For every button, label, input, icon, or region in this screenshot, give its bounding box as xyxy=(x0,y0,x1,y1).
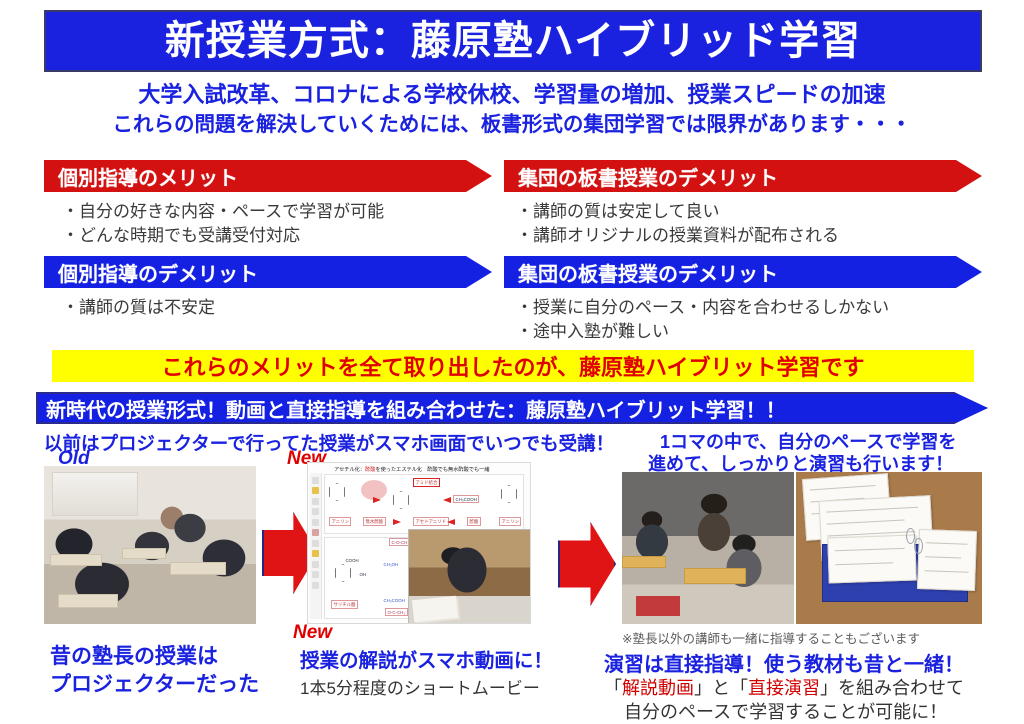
chem-label: CH₃COOH xyxy=(453,495,479,503)
poster-root: 新授業方式：藤原塾ハイブリッド学習 大学入試改革、コロナによる学校休校、学習量の… xyxy=(0,0,1024,724)
arrow-bar-label: 個別指導のメリット xyxy=(58,162,238,191)
chem-slide-title: アセチル化：酢酸を使ったエステル化 酢酸でも無水酢酸でも一緒 xyxy=(334,466,490,473)
benzene-ring-icon xyxy=(501,485,517,503)
chem-panel-upper: アミド結合 CH₃COOH アニリン 無水酢酸 アセトアニリド 酢酸 アニリン xyxy=(324,474,524,534)
chem-label: 無水酢酸 xyxy=(363,517,386,526)
bullet-item: ・授業に自分のペース・内容を合わせるしかない xyxy=(516,296,889,320)
bullet-item: ・途中入塾が難しい xyxy=(516,320,889,344)
lead-paragraph: 大学入試改革、コロナによる学校休校、学習量の増加、授業スピードの加速 これらの問… xyxy=(0,80,1024,140)
bottom-headline-left: 以前はプロジェクターで行ってた授業がスマホ画面でいつでも受講！ xyxy=(44,430,614,456)
lead-line-1: 大学入試改革、コロナによる学校休校、学習量の増加、授業スピードの加速 xyxy=(0,80,1024,110)
yellow-highlight-banner: これらのメリットを全て取り出したのが、藤原塾ハイブリット学習です xyxy=(52,350,974,382)
bullets-kobetsu-merit: ・自分の好きな内容・ペースで学習が可能 ・どんな時期でも受講受付対応 xyxy=(62,200,384,248)
blue-arrow-banner: 新時代の授業形式！動画と直接指導を組み合わせた：藤原塾ハイブリット学習！！ xyxy=(36,392,988,424)
desk xyxy=(622,556,666,568)
benzene-ring-icon xyxy=(393,491,409,509)
photo-chemistry-slide: アセチル化：酢酸を使ったエステル化 酢酸でも無水酢酸でも一緒 アミド結合 CH₃… xyxy=(307,462,531,624)
quote-mid: 」と「 xyxy=(694,678,748,698)
caption-right-note: ※塾長以外の講師も一緒に指導することもございます xyxy=(622,628,920,647)
caption-left-line-2: プロジェクターだった xyxy=(50,668,259,698)
chem-label: CH₃COOH xyxy=(381,596,407,604)
bullet-item: ・講師の質は安定して良い xyxy=(516,200,839,224)
worksheet xyxy=(827,534,917,583)
chem-label: アニリン xyxy=(499,517,521,526)
caption-mid-line-2: 1本5分程度のショートムービー xyxy=(300,674,540,699)
chem-label: CH₃OH xyxy=(381,560,401,568)
slide-tool-sidebar xyxy=(310,473,322,619)
bullets-shudan-merit: ・講師の質は安定して良い ・講師オリジナルの授業資料が配布される xyxy=(516,200,839,248)
benzene-ring-icon xyxy=(335,564,351,582)
chem-label: アニリン xyxy=(329,517,351,526)
quote-open-1: 「 xyxy=(604,678,622,698)
lead-line-2: これらの問題を解決していくためには、板書形式の集団学習では限界があります・・・ xyxy=(0,110,1024,140)
blue-arrow-banner-label: 新時代の授業形式！動画と直接指導を組み合わせた：藤原塾ハイブリット学習！！ xyxy=(46,394,786,423)
binder-ring-icon xyxy=(914,538,923,554)
desk xyxy=(122,548,166,559)
arrow-bar-shudan-merit: 集団の板書授業のデメリット xyxy=(504,160,982,192)
bullets-kobetsu-demerit: ・講師の質は不安定 xyxy=(62,296,215,320)
term-kaisetsu-douga: 解説動画 xyxy=(622,678,694,698)
chem-title-part-b: を使ったエステル化 酢酸でも無水酢酸でも一緒 xyxy=(375,467,489,473)
arrow-bar-kobetsu-merit: 個別指導のメリット xyxy=(44,160,492,192)
yellow-banner-label: これらのメリットを全て取り出したのが、藤原塾ハイブリット学習です xyxy=(161,350,864,382)
chair xyxy=(636,596,680,616)
caption-right-line-1: 演習は直接指導！使う教材も昔と一緒！ xyxy=(604,648,964,677)
bullet-item: ・どんな時期でも受講受付対応 xyxy=(62,224,384,248)
title-banner: 新授業方式：藤原塾ハイブリッド学習 xyxy=(44,10,982,72)
caption-left-line-1: 昔の塾長の授業は xyxy=(50,640,218,670)
chem-label: アセトアニリド xyxy=(413,517,449,526)
chem-title-part-a: アセチル化： xyxy=(334,467,365,473)
desk xyxy=(170,562,226,575)
reaction-arrow-icon xyxy=(393,519,401,525)
bullet-item: ・講師オリジナルの授業資料が配布される xyxy=(516,224,839,248)
reaction-arrow-icon xyxy=(443,497,451,503)
chem-title-highlight: 酢酸 xyxy=(365,467,375,473)
chem-label: O-C-CH₃ xyxy=(385,608,408,616)
term-chokusetsu-enshu: 直接演習 xyxy=(748,678,820,698)
reaction-arrow-icon xyxy=(447,519,455,525)
chem-label: COOH xyxy=(343,556,361,564)
bullet-item: ・講師の質は不安定 xyxy=(62,296,215,320)
chem-label: 酢酸 xyxy=(467,517,481,526)
arrow-bar-shudan-demerit: 集団の板書授業のデメリット xyxy=(504,256,982,288)
bullet-item: ・自分の好きな内容・ペースで学習が可能 xyxy=(62,200,384,224)
papers xyxy=(412,596,458,622)
photo-classroom-projector xyxy=(44,466,256,624)
bullets-shudan-demerit: ・授業に自分のペース・内容を合わせるしかない ・途中入塾が難しい xyxy=(516,296,889,344)
photo-student-headphones xyxy=(408,529,531,624)
caption-right-line-3: 自分のペースで学習することが可能に！ xyxy=(624,698,947,724)
quote-close: 」を組み合わせて xyxy=(820,678,964,698)
photo-direct-tutoring xyxy=(622,472,794,624)
caption-mid-line-1: 授業の解説がスマホ動画に！ xyxy=(300,644,553,673)
photo-worksheets-binder xyxy=(796,472,982,624)
caption-right-line-2: 「解説動画」と「直接演習」を組み合わせて xyxy=(604,674,964,700)
benzene-ring-icon xyxy=(329,483,345,501)
reaction-arrow-icon xyxy=(373,497,381,503)
transition-arrow-2 xyxy=(558,522,616,606)
desk xyxy=(58,594,118,608)
arrow-bar-label: 個別指導のデメリット xyxy=(58,258,258,287)
arrow-bar-label: 集団の板書授業のデメリット xyxy=(518,162,778,191)
arrow-bar-kobetsu-demerit: 個別指導のデメリット xyxy=(44,256,492,288)
page-title: 新授業方式：藤原塾ハイブリッド学習 xyxy=(165,21,861,61)
chem-label: OH xyxy=(357,570,369,578)
desk xyxy=(50,554,102,566)
label-new-bottom: New xyxy=(293,622,332,644)
worksheet xyxy=(917,529,977,591)
arrow-bar-label: 集団の板書授業のデメリット xyxy=(518,258,778,287)
chem-label: サリチル酸 xyxy=(331,600,358,609)
desk xyxy=(684,568,746,584)
chem-label: アミド結合 xyxy=(413,478,440,487)
projector-screen xyxy=(52,472,138,516)
